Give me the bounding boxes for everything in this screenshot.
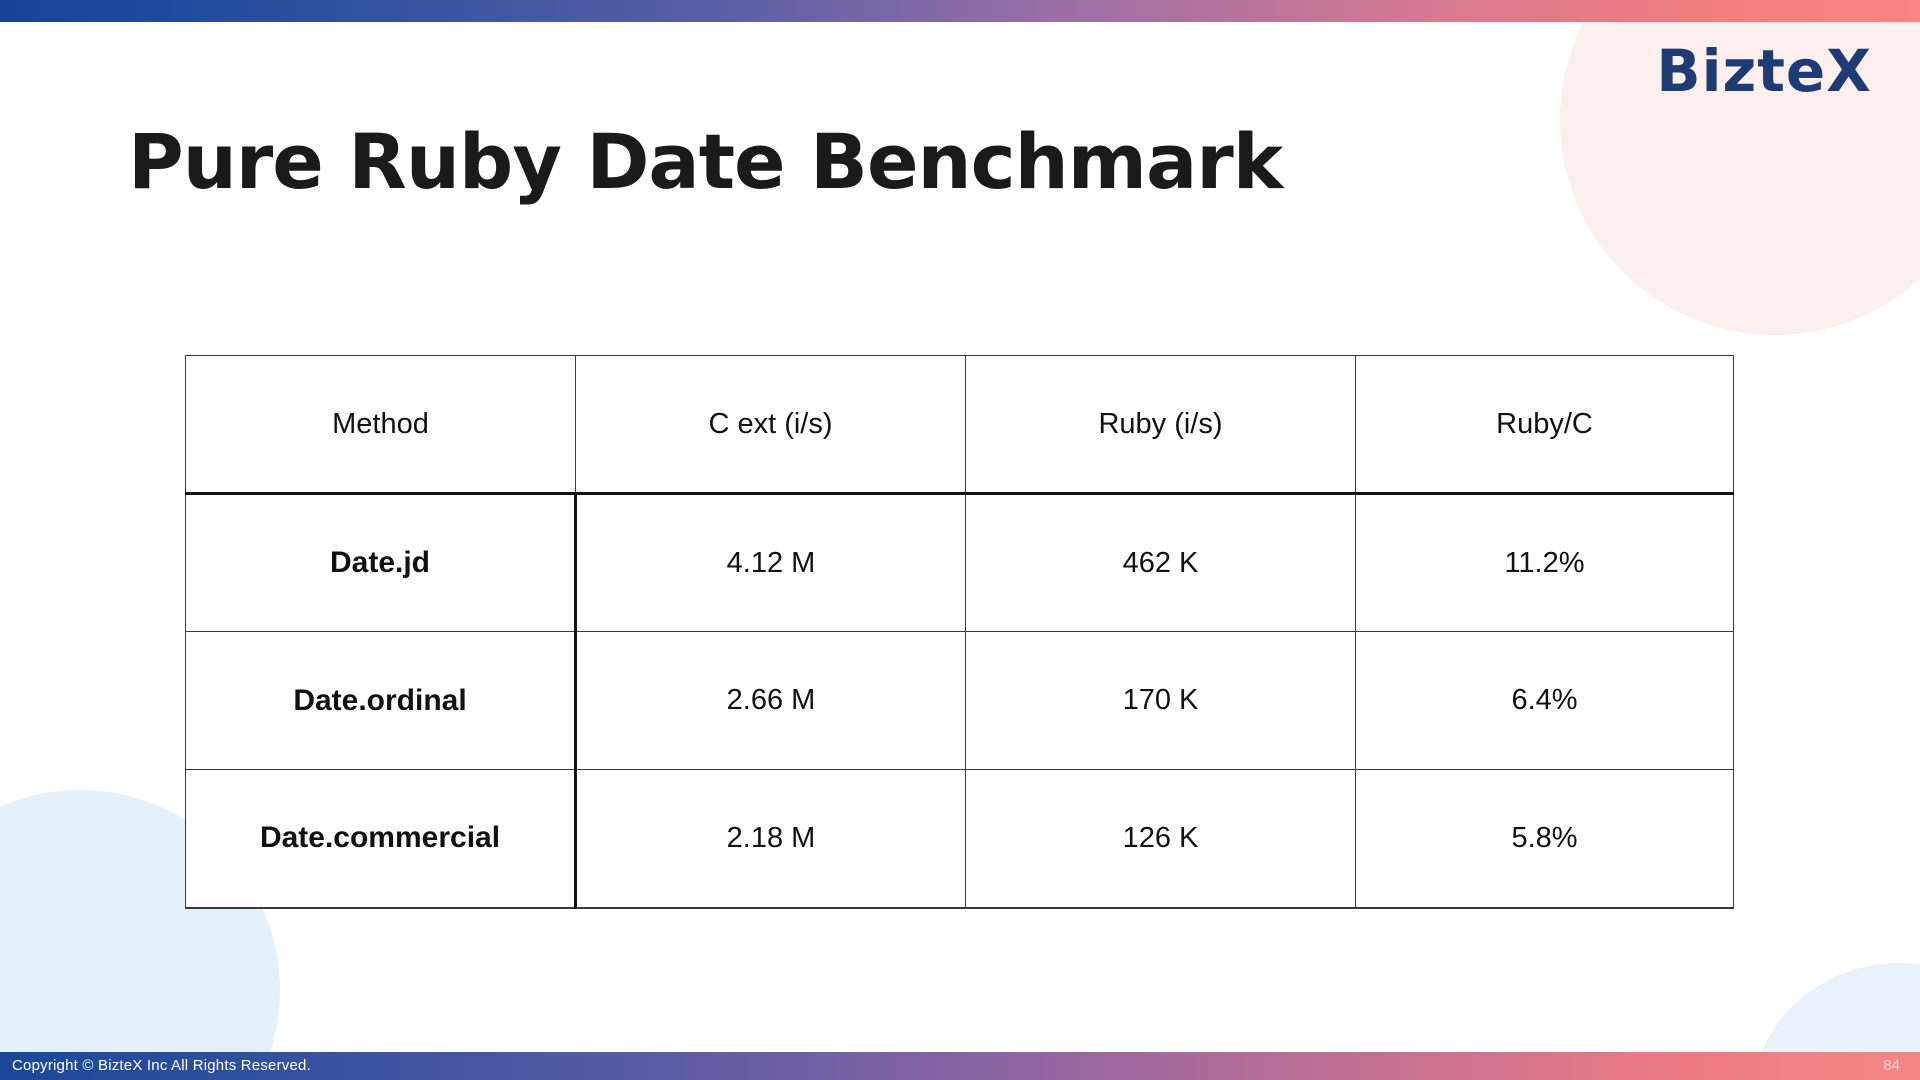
biztex-logo: BizteX <box>1656 42 1872 100</box>
copyright-text: Copyright © BizteX Inc All Rights Reserv… <box>12 1052 311 1080</box>
cell-c-ext: 2.18 M <box>576 770 966 908</box>
cell-ruby-c: 5.8% <box>1356 770 1734 908</box>
column-header-ruby-c: Ruby/C <box>1356 356 1734 494</box>
table-row: Date.commercial 2.18 M 126 K 5.8% <box>186 770 1734 908</box>
slide-root: BizteX Pure Ruby Date Benchmark Method C… <box>0 0 1920 1080</box>
table-body: Date.jd 4.12 M 462 K 11.2% Date.ordinal … <box>186 494 1734 908</box>
table-row: Date.jd 4.12 M 462 K 11.2% <box>186 494 1734 632</box>
table-header: Method C ext (i/s) Ruby (i/s) Ruby/C <box>186 356 1734 494</box>
table-header-row: Method C ext (i/s) Ruby (i/s) Ruby/C <box>186 356 1734 494</box>
cell-ruby: 462 K <box>966 494 1356 632</box>
bottom-gradient-bar: Copyright © BizteX Inc All Rights Reserv… <box>0 1052 1920 1080</box>
benchmark-table-container: Method C ext (i/s) Ruby (i/s) Ruby/C Dat… <box>185 355 1733 909</box>
column-header-ruby: Ruby (i/s) <box>966 356 1356 494</box>
page-title: Pure Ruby Date Benchmark <box>128 118 1282 205</box>
cell-ruby: 126 K <box>966 770 1356 908</box>
cell-method: Date.commercial <box>186 770 576 908</box>
page-number: 84 <box>1883 1052 1906 1080</box>
cell-method: Date.ordinal <box>186 632 576 770</box>
benchmark-table: Method C ext (i/s) Ruby (i/s) Ruby/C Dat… <box>185 355 1734 909</box>
column-header-method: Method <box>186 356 576 494</box>
cell-ruby: 170 K <box>966 632 1356 770</box>
cell-ruby-c: 6.4% <box>1356 632 1734 770</box>
top-gradient-bar <box>0 0 1920 22</box>
table-row: Date.ordinal 2.66 M 170 K 6.4% <box>186 632 1734 770</box>
column-header-c-ext: C ext (i/s) <box>576 356 966 494</box>
cell-method: Date.jd <box>186 494 576 632</box>
cell-c-ext: 4.12 M <box>576 494 966 632</box>
cell-ruby-c: 11.2% <box>1356 494 1734 632</box>
cell-c-ext: 2.66 M <box>576 632 966 770</box>
